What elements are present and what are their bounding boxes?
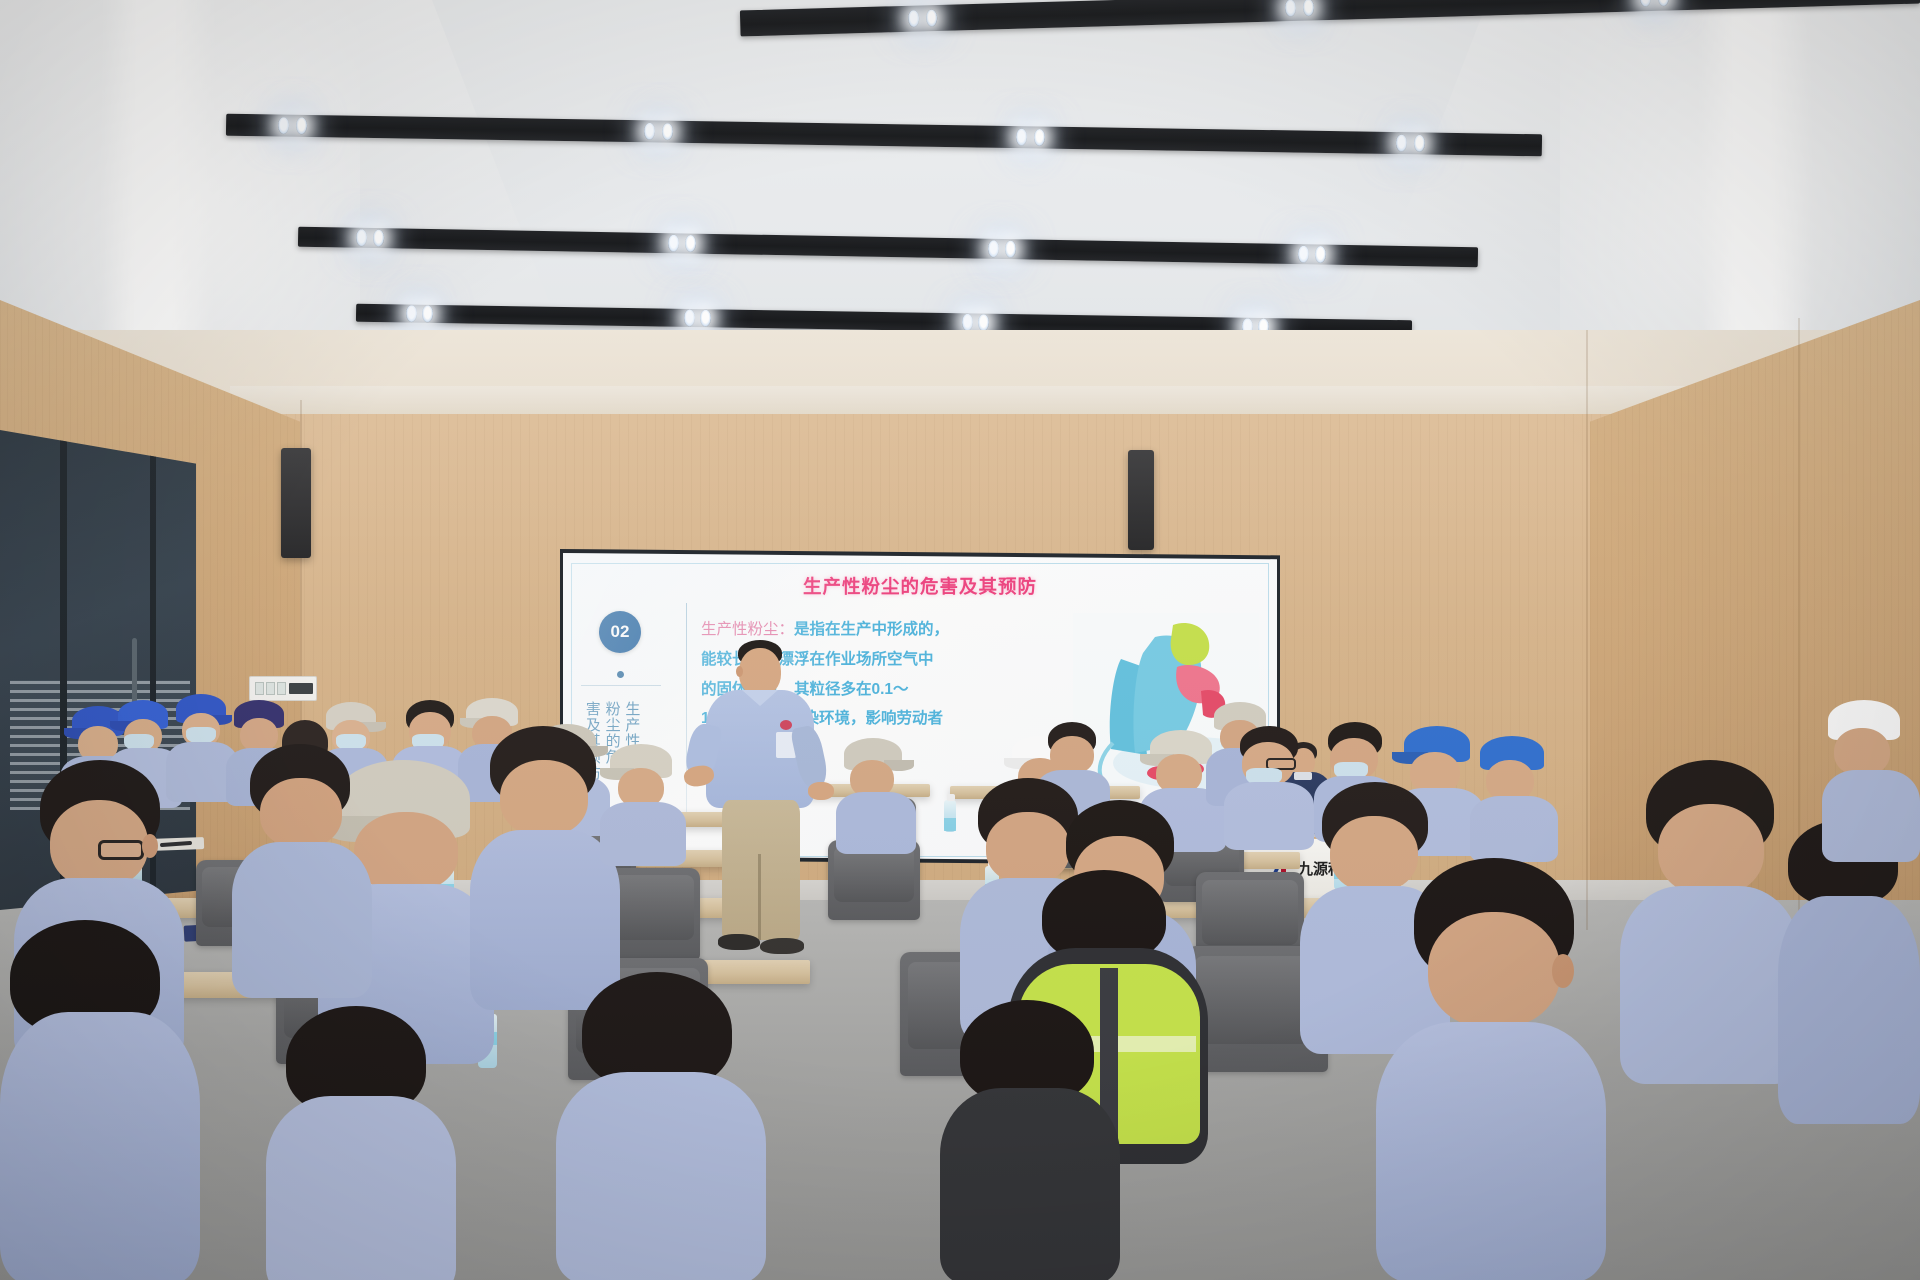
- attendee-foreground-left: [0, 920, 200, 1280]
- attendee-glasses-icon: [98, 840, 144, 860]
- presenter-shoe-left: [718, 934, 760, 950]
- right-wall-seam: [1586, 330, 1588, 930]
- attendee-foreground-right: [940, 1000, 1120, 1280]
- attendee-right-4: [1470, 736, 1558, 860]
- attendee-center-back-1: [600, 744, 686, 864]
- slide-title: 生产性粉尘的危害及其预防: [563, 573, 1277, 599]
- attendee-torso: [1470, 796, 1558, 862]
- attendee-bottom-right: [1376, 858, 1606, 1280]
- attendee-bottom-left: [266, 1006, 456, 1280]
- presenter-ear: [736, 666, 743, 677]
- attendee-far-right-2: [1778, 820, 1920, 1120]
- presenter-hand-right: [808, 782, 834, 800]
- presenter: [684, 640, 834, 970]
- attendee-torso: [0, 1012, 200, 1280]
- slide-bullet-dot: [617, 671, 624, 678]
- attendee-torso: [266, 1096, 456, 1280]
- attendee-head: [1658, 804, 1764, 896]
- attendee-far-right-edge: [1620, 760, 1800, 1080]
- presenter-head: [739, 648, 781, 696]
- attendee-torso: [940, 1088, 1120, 1280]
- attendee-torso: [556, 1072, 766, 1280]
- presenter-shoe-right: [760, 938, 804, 954]
- attendee-front-shorthair-mid: [232, 744, 372, 994]
- attendee-torso: [1778, 896, 1920, 1124]
- training-room-photo: 生产性粉尘的危害及其预防 02 生产性 粉尘的危 害及其预防 生产性粉尘：是指在…: [0, 0, 1920, 1280]
- presenter-pants: [722, 800, 800, 940]
- attendee-foreground-center: [556, 972, 766, 1280]
- attendee-ear: [1552, 954, 1574, 988]
- water-bottle-2: [944, 800, 956, 832]
- attendee-head: [1428, 912, 1560, 1028]
- presenter-badge-clip: [780, 720, 792, 730]
- body-lead: 生产性粉尘：: [701, 621, 794, 638]
- attendee-torso: [600, 802, 686, 866]
- attendee-head: [1834, 728, 1890, 776]
- attendee-center-back-2: [836, 738, 916, 854]
- attendee-torso: [1822, 770, 1920, 862]
- attendee-ear: [142, 834, 158, 858]
- attendee-head: [1050, 736, 1094, 774]
- slide-section-badge: 02: [599, 611, 641, 653]
- attendee-front-center-left: [470, 726, 620, 1006]
- attendee-head: [260, 778, 342, 848]
- attendee-torso: [836, 792, 916, 854]
- light-switch-panel[interactable]: [249, 676, 317, 701]
- wall-speaker-right: [1128, 450, 1154, 550]
- presenter-pants-split: [758, 854, 761, 940]
- attendee-torso: [1620, 886, 1800, 1084]
- attendee-torso: [232, 842, 372, 998]
- attendee-right-edge-top: [1822, 700, 1920, 860]
- body-line-1-text: 是指在生产中形成的，: [794, 621, 949, 638]
- attendee-torso: [1376, 1022, 1606, 1280]
- attendee-head: [500, 760, 588, 836]
- slide-divider-line: [581, 685, 661, 686]
- wall-speaker-left: [281, 448, 311, 558]
